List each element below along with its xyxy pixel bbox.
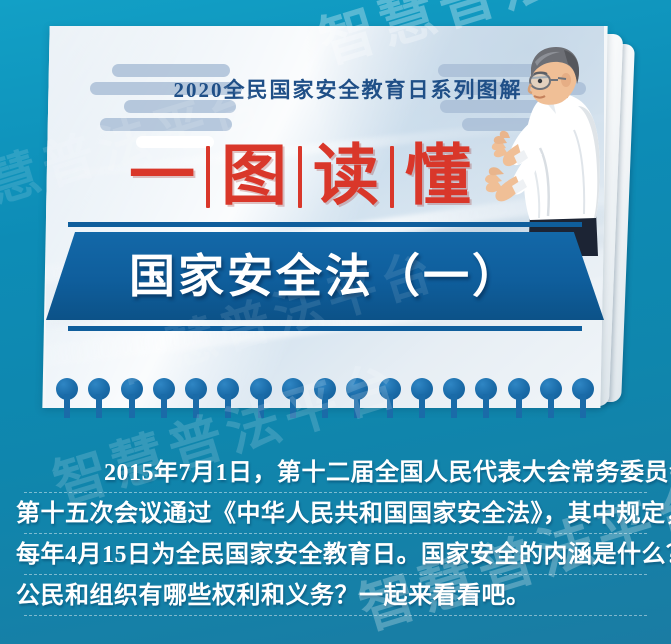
binding-pin-stem (193, 394, 199, 418)
title-band-rule-bottom (68, 326, 582, 331)
binding-pin (121, 378, 143, 418)
headline-separator-3 (390, 146, 394, 208)
binding-pin (314, 378, 336, 418)
body-line: 2015年7月1日，第十二届全国人民代表大会常务委员会 (0, 452, 671, 493)
binding-pin (572, 378, 594, 418)
binding-pin (185, 378, 207, 418)
body-line: 公民和组织有哪些权利和义务？一起来看看吧。 (0, 575, 671, 616)
body-line-text: 每年4月15日为全民国家安全教育日。国家安全的内涵是什么？ (0, 543, 671, 567)
binding-pin-stem (64, 394, 70, 418)
poster-title: 国家安全法（一） (129, 253, 521, 299)
body-line-divider (24, 615, 647, 616)
binding-pin-stem (580, 394, 586, 418)
binding-pin (540, 378, 562, 418)
binding-pin-stem (354, 394, 360, 418)
binding-pin-stem (96, 394, 102, 418)
title-band-rule-top (68, 222, 582, 227)
body-paragraph: 2015年7月1日，第十二届全国人民代表大会常务委员会第十五次会议通过《中华人民… (0, 452, 671, 616)
body-line: 每年4月15日为全民国家安全教育日。国家安全的内涵是什么？ (0, 534, 671, 575)
body-line-text: 第十五次会议通过《中华人民共和国国家安全法》，其中规定， (0, 502, 671, 526)
body-line-text: 公民和组织有哪些权利和义务？一起来看看吧。 (0, 584, 531, 608)
binding-pin (282, 378, 304, 418)
binding-pin (379, 378, 401, 418)
binding-pin (411, 378, 433, 418)
body-line-text: 2015年7月1日，第十二届全国人民代表大会常务委员会 (0, 461, 671, 485)
headline-char-4: 懂 (396, 144, 480, 210)
binding-pin-stem (161, 394, 167, 418)
binding-pin-stem (483, 394, 489, 418)
title-band-group: 国家安全法（一） (46, 222, 604, 332)
binding-pin-stem (516, 394, 522, 418)
binding-pin-stem (387, 394, 393, 418)
headline-char-2: 图 (212, 144, 296, 210)
binding-pin (443, 378, 465, 418)
headline-separator-2 (298, 146, 302, 208)
binding-pin (346, 378, 368, 418)
poster-canvas: 2020全民国家安全教育日系列图解 一 图 读 懂 (0, 0, 671, 644)
binding-pin-stem (290, 394, 296, 418)
binding-pin (508, 378, 530, 418)
binding-pin-stem (129, 394, 135, 418)
binding-pin-stem (451, 394, 457, 418)
binding-pin (56, 378, 78, 418)
binding-pin (153, 378, 175, 418)
pin-row (46, 378, 604, 422)
body-line: 第十五次会议通过《中华人民共和国国家安全法》，其中规定， (0, 493, 671, 534)
binding-pin-stem (225, 394, 231, 418)
headline-char-3: 读 (304, 144, 388, 210)
binding-pin-stem (548, 394, 554, 418)
binding-pin (250, 378, 272, 418)
headline-char-1: 一 (120, 144, 204, 210)
hero-card-inner: 2020全民国家安全教育日系列图解 一 图 读 懂 (46, 26, 604, 408)
binding-pin (88, 378, 110, 418)
title-band: 国家安全法（一） (46, 232, 604, 320)
binding-pin (217, 378, 239, 418)
binding-pin-stem (258, 394, 264, 418)
binding-pin (475, 378, 497, 418)
binding-pin-stem (322, 394, 328, 418)
hero-card: 2020全民国家安全教育日系列图解 一 图 读 懂 (42, 26, 607, 408)
headline-yitududong: 一 图 读 懂 (120, 144, 480, 210)
binding-pin-stem (419, 394, 425, 418)
headline-separator-1 (206, 146, 210, 208)
